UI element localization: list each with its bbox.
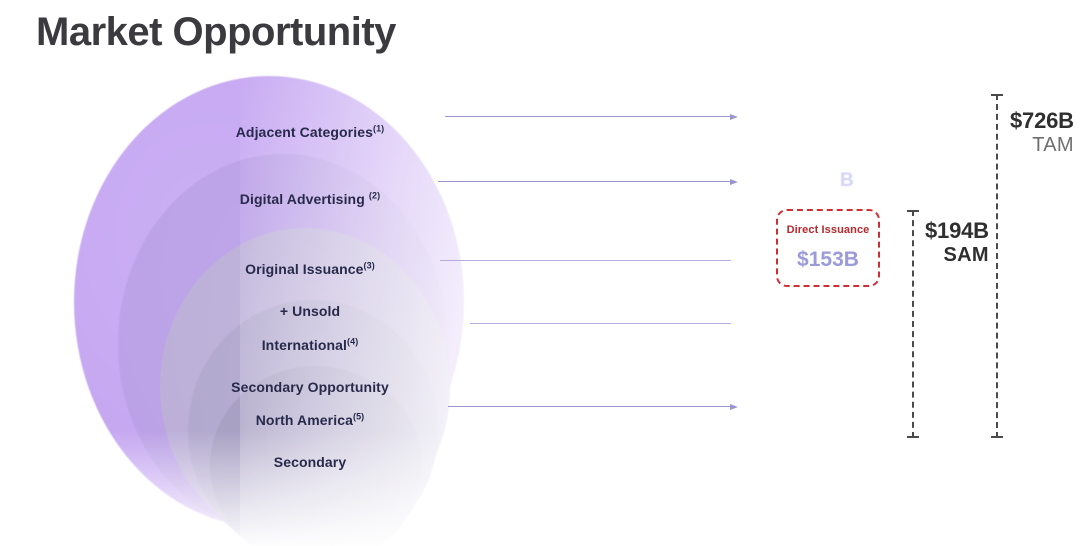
bracket-line: [996, 94, 998, 438]
sam-label-group: $194B SAM: [925, 218, 989, 267]
connector-shaft: [448, 406, 731, 407]
direct-issuance-value: $153B: [778, 248, 878, 272]
ring-label-north-america-secondary: North America(5) Secondary: [150, 389, 470, 473]
connector-arrow-original-issuance: [440, 256, 738, 266]
arrow-head-icon: [730, 258, 738, 264]
connector-arrow-adjacent-categories: [445, 112, 738, 122]
connector-shaft: [445, 116, 731, 117]
direct-issuance-label: Direct Issuance: [778, 224, 878, 236]
page-title: Market Opportunity: [36, 10, 396, 55]
ring-label-text-line2: Secondary: [274, 454, 347, 470]
ring-label-digital-advertising: Digital Advertising (2): [150, 168, 470, 210]
tam-label-group: $726B TAM: [1010, 108, 1074, 157]
arrow-head-icon: [730, 114, 738, 120]
connector-arrow-digital-advertising: [438, 177, 738, 187]
sam-amount: $194B: [925, 218, 989, 244]
arrow-head-icon: [730, 179, 738, 185]
arrow-head-icon: [730, 321, 738, 327]
ring-label-text: Adjacent Categories: [236, 124, 373, 140]
arrow-head-icon: [730, 404, 738, 410]
ring-label-text: Original Issuance: [245, 261, 363, 277]
ghost-letter-artifact: B: [840, 170, 854, 192]
connector-arrow-international-secondary: [470, 319, 738, 329]
ring-label-text: International: [262, 337, 347, 353]
ring-label-adjacent-categories: Adjacent Categories(1): [150, 101, 470, 143]
ring-label-text: Digital Advertising: [240, 191, 365, 207]
tam-acronym: TAM: [1010, 134, 1074, 157]
bracket-sam: [907, 210, 919, 438]
ring-label-text: North America: [256, 412, 353, 428]
slide-canvas: Market Opportunity Adjacent Categories(1…: [0, 0, 1080, 546]
footnote-marker: (1): [373, 123, 384, 133]
bracket-line: [912, 210, 914, 438]
footnote-marker: (3): [364, 260, 375, 270]
direct-issuance-callout: Direct Issuance $153B: [776, 209, 880, 287]
bracket-cap-bottom: [991, 436, 1003, 438]
footnote-marker: (2): [369, 190, 380, 200]
footnote-marker: (5): [353, 411, 364, 421]
connector-shaft: [440, 260, 731, 261]
connector-shaft: [438, 181, 731, 182]
sam-acronym: SAM: [925, 244, 989, 267]
connector-shaft: [470, 323, 731, 324]
tam-amount: $726B: [1010, 108, 1074, 134]
ring-label-international-secondary: International(4) Secondary Opportunity: [140, 314, 480, 398]
footnote-marker: (4): [347, 336, 358, 346]
ring-label-original-issuance: Original Issuance(3) + Unsold: [150, 238, 470, 322]
connector-arrow-north-america-secondary: [448, 402, 738, 412]
bracket-tam: [991, 94, 1003, 438]
bracket-cap-bottom: [907, 436, 919, 438]
